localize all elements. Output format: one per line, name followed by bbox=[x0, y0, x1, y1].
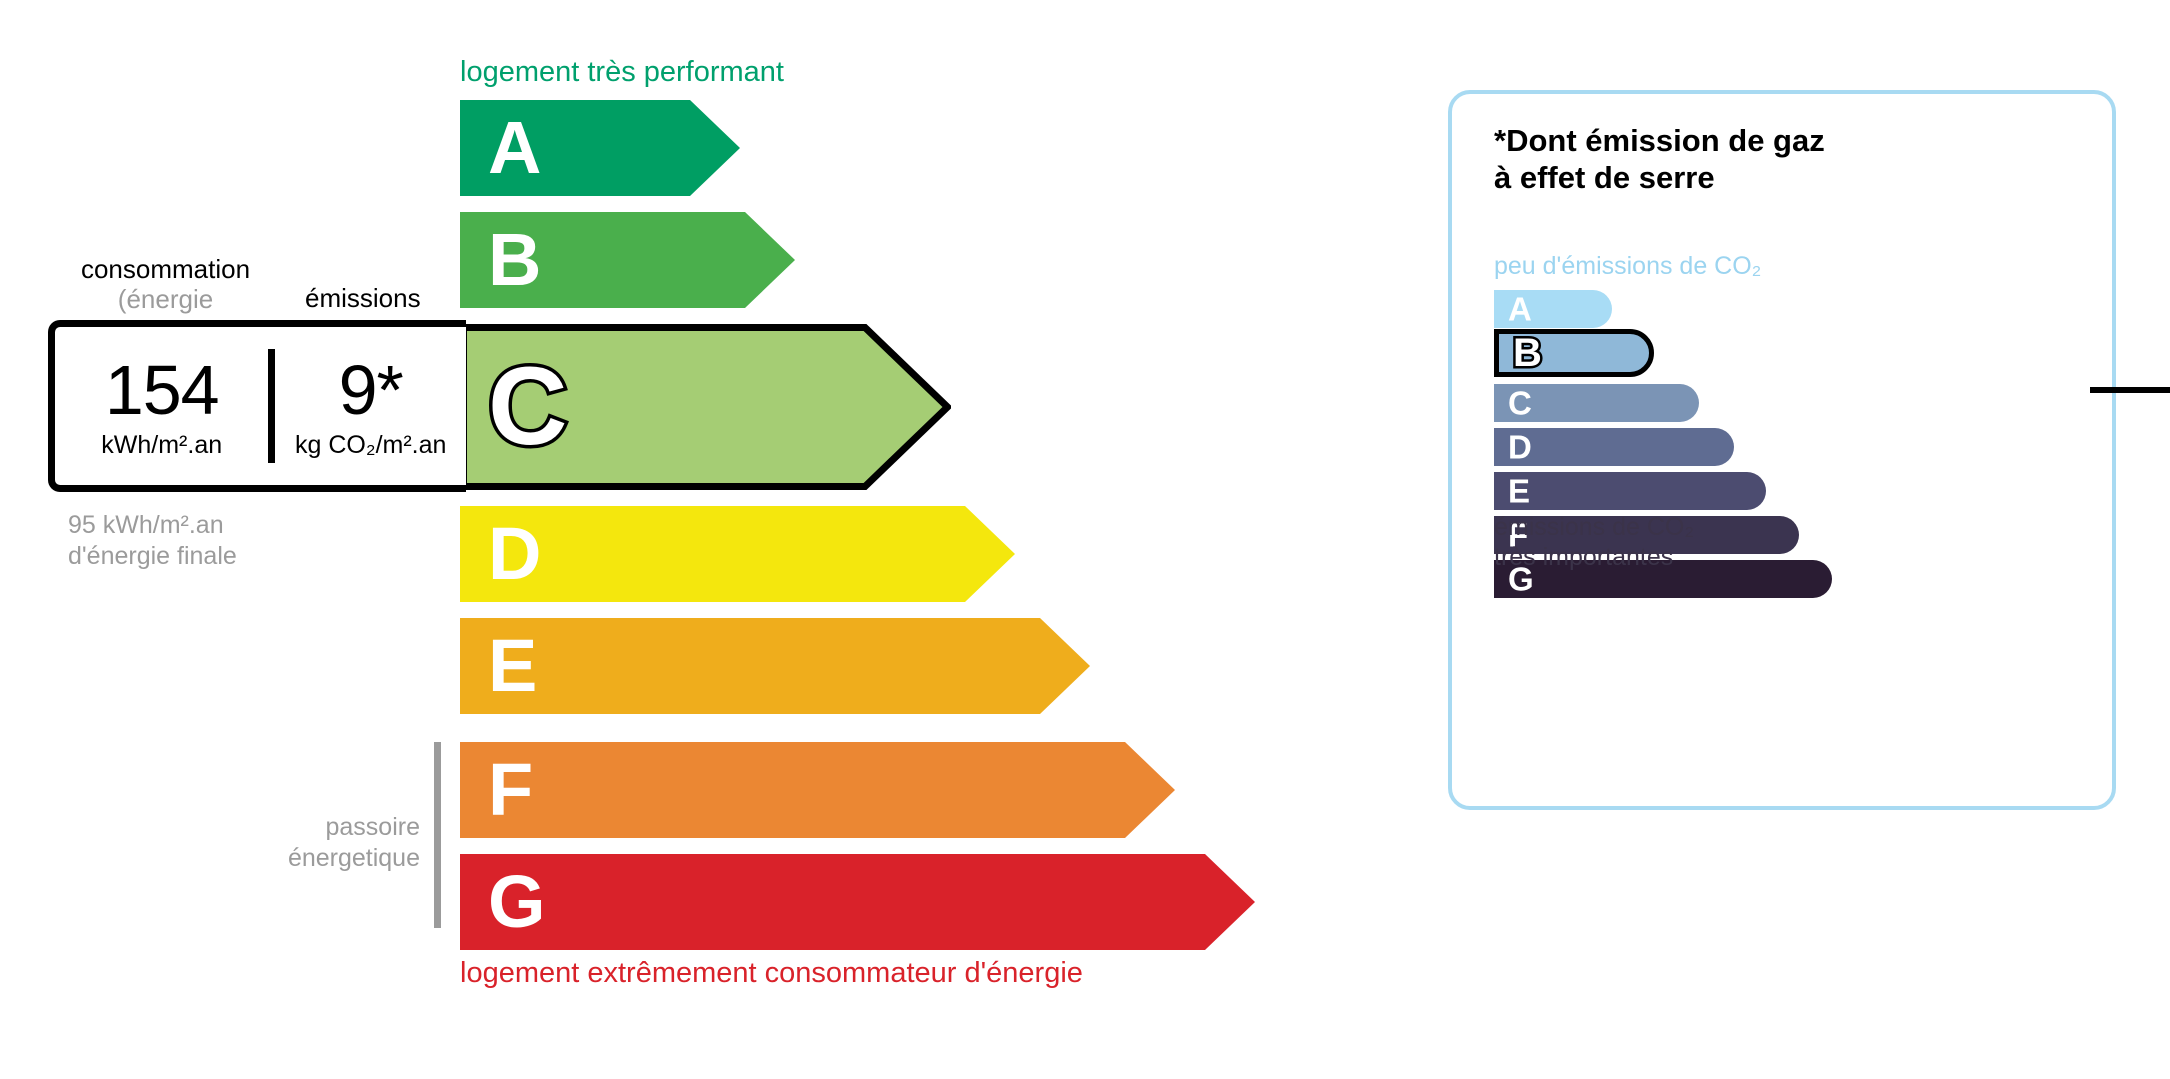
passoire-label: passoireénergetique bbox=[240, 812, 420, 875]
energy-top-caption: logement très performant bbox=[460, 56, 784, 89]
emissions-value-cell: 9* kg CO₂/m².an bbox=[275, 327, 466, 485]
energy-bottom-caption: logement extrêmement consommateur d'éner… bbox=[460, 957, 1083, 990]
energy-class-letter-a: A bbox=[488, 111, 541, 185]
energy-class-bar-c: C bbox=[460, 324, 951, 490]
consumption-value-cell: 154 kWh/m².an bbox=[55, 327, 268, 485]
bar-shape-d bbox=[460, 506, 1015, 602]
bar-shape-g bbox=[460, 854, 1255, 950]
co2-class-letter-a: A bbox=[1508, 293, 1532, 326]
final-energy-note: 95 kWh/m².and'énergie finale bbox=[68, 510, 237, 573]
co2-top-caption: peu d'émissions de CO₂ bbox=[1494, 252, 1761, 281]
co2-class-bar-a: A bbox=[1494, 290, 1612, 328]
emissions-label: émissions bbox=[305, 283, 421, 313]
emissions-value: 9* bbox=[339, 355, 403, 425]
emissions-unit: kg CO₂/m².an bbox=[295, 433, 446, 458]
energy-class-bar-d: D bbox=[460, 506, 1015, 602]
co2-class-letter-d: D bbox=[1508, 431, 1532, 464]
co2-class-letter-b: B bbox=[1513, 333, 1542, 373]
consumption-unit: kWh/m².an bbox=[101, 433, 222, 458]
consumption-label-main: consommation bbox=[81, 254, 250, 284]
co2-leader-line bbox=[2090, 387, 2170, 393]
bar-shape-e bbox=[460, 618, 1090, 714]
energy-class-bar-g: G bbox=[460, 854, 1255, 950]
co2-emissions-panel: *Dont émission de gazà effet de serre pe… bbox=[1448, 90, 2116, 810]
energy-class-letter-d: D bbox=[488, 517, 541, 591]
energy-class-letter-b: B bbox=[488, 223, 541, 297]
energy-class-bar-f: F bbox=[460, 742, 1175, 838]
energy-class-bar-b: B bbox=[460, 212, 795, 308]
co2-class-letter-c: C bbox=[1508, 387, 1532, 420]
co2-class-letter-e: E bbox=[1508, 475, 1530, 508]
energy-performance-diagram: logement très performant ABCDEFG logemen… bbox=[0, 0, 1400, 1079]
co2-class-bar-b: B bbox=[1494, 329, 1654, 377]
passoire-bracket bbox=[434, 742, 441, 928]
energy-class-letter-f: F bbox=[488, 753, 533, 827]
energy-class-letter-c: C bbox=[488, 352, 567, 462]
co2-bottom-caption: émissions de CO₂très importantes bbox=[1494, 512, 1694, 572]
value-readout-box: 154 kWh/m².an 9* kg CO₂/m².an bbox=[48, 320, 466, 492]
co2-class-bar-c: C bbox=[1494, 384, 1699, 422]
bar-shape-f bbox=[460, 742, 1175, 838]
value-divider bbox=[268, 349, 275, 463]
energy-class-bar-a: A bbox=[460, 100, 740, 196]
co2-class-bar-e: E bbox=[1494, 472, 1766, 510]
co2-panel-title: *Dont émission de gazà effet de serre bbox=[1494, 122, 1825, 196]
energy-class-bar-e: E bbox=[460, 618, 1090, 714]
co2-class-bar-d: D bbox=[1494, 428, 1734, 466]
consumption-value: 154 bbox=[105, 355, 219, 425]
energy-class-letter-e: E bbox=[488, 629, 537, 703]
energy-class-letter-g: G bbox=[488, 865, 546, 939]
